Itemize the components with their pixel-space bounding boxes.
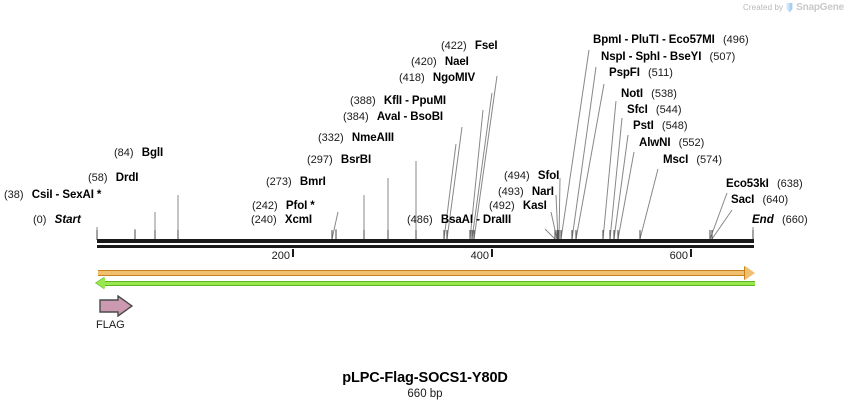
enzyme-label[interactable]: (332) NmeAIII [318,132,394,144]
enzyme-label[interactable]: (384) AvaI - BsoBI [343,111,443,123]
enzyme-name: BsaAI - DraIII [441,214,511,226]
enzyme-name: AvaI - BsoBI [377,111,443,123]
enzyme-position: (486) [407,214,433,226]
enzyme-position: (384) [343,111,369,123]
enzyme-position: (494) [504,170,530,182]
enzyme-label[interactable]: (297) BsrBI [307,154,371,166]
enzyme-label[interactable]: (38) CsiI - SexAI * [4,189,101,201]
green-feature-track[interactable] [104,281,755,286]
enzyme-name: DrdI [116,172,139,184]
enzyme-label[interactable]: SacI (640) [731,194,788,206]
enzyme-label[interactable]: (84) BglI [114,147,163,159]
enzyme-position: (297) [307,154,333,166]
plasmid-backbone-shadow [97,245,754,248]
enzyme-name: KflI - PpuMI [384,95,446,107]
enzyme-position: (511) [648,67,673,79]
enzyme-name: NmeAIII [352,132,394,144]
enzyme-position: (638) [777,178,803,190]
enzyme-label[interactable]: (273) BmrI [266,176,326,188]
enzyme-position: (332) [318,132,344,144]
enzyme-name: NgoMIV [433,72,475,84]
enzyme-position: (507) [710,51,736,63]
enzyme-position: (640) [762,194,788,206]
enzyme-name: FseI [475,40,498,52]
enzyme-name: AlwNI [639,137,670,149]
end-label[interactable]: End (660) [752,214,808,226]
plasmid-map-canvas: Created by SnapGene [0,0,850,409]
enzyme-name: NaeI [445,56,469,68]
ruler-tick-mark [491,249,493,257]
enzyme-name: PstI [633,120,654,132]
enzyme-name: BglI [142,147,163,159]
enzyme-label[interactable]: (486) BsaAI - DraIII [407,214,511,226]
enzyme-name: BsrBI [341,154,371,166]
enzyme-name: CsiI - SexAI * [32,189,102,201]
plasmid-backbone [97,239,754,243]
enzyme-label[interactable]: BpmI - PluTI - Eco57MI (496) [593,34,749,46]
orange-feature-track[interactable] [98,270,748,276]
ruler-tick-label: 600 [670,250,689,262]
ruler-tick-mark [292,249,294,257]
flag-feature-arrow[interactable] [99,295,133,322]
start-label[interactable]: (0) Start [33,214,81,226]
enzyme-position: (38) [4,189,24,201]
enzyme-position: (420) [411,56,437,68]
enzyme-label[interactable]: MscI (574) [663,154,722,166]
enzyme-label[interactable]: PstI (548) [633,120,688,132]
enzyme-position: (418) [399,72,425,84]
enzyme-label[interactable]: AlwNI (552) [639,137,704,149]
enzyme-position: (422) [441,40,467,52]
enzyme-position: (388) [350,95,376,107]
enzyme-position: (58) [88,172,108,184]
enzyme-name: KasI [523,200,547,212]
enzyme-label[interactable]: (494) SfoI [504,170,559,182]
enzyme-name: NotI [621,88,643,100]
enzyme-position: (538) [651,88,677,100]
enzyme-label[interactable]: (388) KflI - PpuMI [350,95,446,107]
enzyme-label[interactable]: PspFI (511) [609,67,673,79]
plasmid-length: 660 bp [0,388,850,400]
enzyme-name: MscI [663,154,688,166]
enzyme-label[interactable]: (422) FseI [441,40,498,52]
enzyme-label[interactable]: SfcI (544) [627,104,682,116]
enzyme-position: (493) [498,186,524,198]
enzyme-name: Eco53kI [726,178,769,190]
flag-feature-label: FLAG [96,319,125,331]
orange-track-arrowhead [745,266,755,280]
enzyme-label[interactable]: Eco53kI (638) [726,178,803,190]
green-track-arrowhead [96,277,105,289]
enzyme-label[interactable]: (242) PfoI * [252,200,315,212]
enzyme-label[interactable]: (492) KasI [489,200,547,212]
enzyme-position: (242) [252,200,278,212]
enzyme-label[interactable]: (58) DrdI [88,172,138,184]
end-position: (660) [782,214,808,226]
enzyme-position: (273) [266,176,292,188]
enzyme-position: (548) [662,120,688,132]
ruler-tick-label: 400 [471,250,490,262]
enzyme-name: NspI - SphI - BseYI [601,51,701,63]
start-position: (0) [33,214,46,226]
enzyme-label[interactable]: (493) NarI [498,186,554,198]
ruler-tick-label: 200 [272,250,291,262]
enzyme-position: (496) [723,34,749,46]
enzyme-position: (492) [489,200,515,212]
enzyme-name: XcmI [285,214,312,226]
enzyme-position: (574) [696,154,722,166]
enzyme-name: SacI [731,194,754,206]
enzyme-name: SfcI [627,104,648,116]
enzyme-name: BpmI - PluTI - Eco57MI [593,34,715,46]
enzyme-position: (240) [251,214,277,226]
enzyme-label[interactable]: (240) XcmI [251,214,312,226]
enzyme-name: NarI [532,186,554,198]
enzyme-label[interactable]: NspI - SphI - BseYI (507) [601,51,735,63]
enzyme-label[interactable]: (420) NaeI [411,56,469,68]
enzyme-name: SfoI [538,170,559,182]
enzyme-label[interactable]: NotI (538) [621,88,677,100]
start-name: Start [55,214,81,226]
end-name: End [752,214,774,226]
plasmid-title: pLPC-Flag-SOCS1-Y80D [0,370,850,386]
enzyme-name: PfoI * [286,200,315,212]
enzyme-position: (84) [114,147,134,159]
enzyme-name: BmrI [300,176,326,188]
enzyme-position: (552) [679,137,705,149]
ruler-tick-mark [690,249,692,257]
enzyme-name: PspFI [609,67,640,79]
enzyme-position: (544) [656,104,682,116]
enzyme-label[interactable]: (418) NgoMIV [399,72,475,84]
